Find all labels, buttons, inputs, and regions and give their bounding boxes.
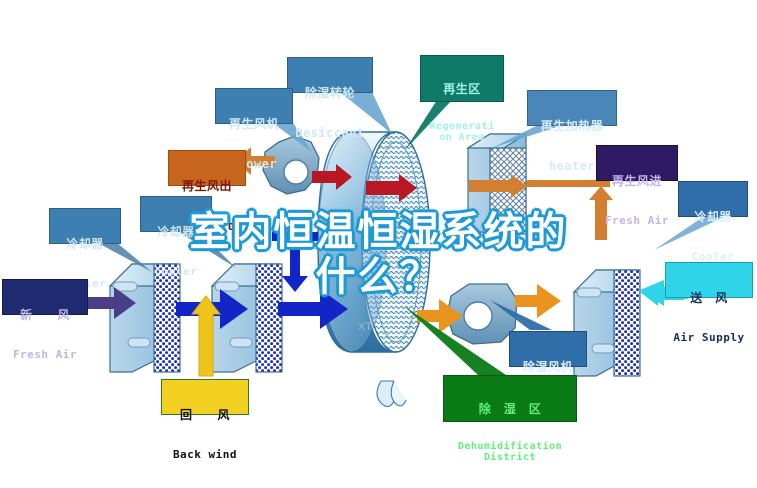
label-regeneration-heater[interactable]: 再生加热器 heater: [527, 90, 617, 126]
label-air-supply[interactable]: 送 风 Air Supply: [665, 262, 753, 298]
label-regeneration-fresh-air[interactable]: 再生风进 Fresh Air: [596, 145, 678, 181]
label-dehumidification-district-cn: 除 湿 区: [444, 403, 576, 416]
label-desiccant-rotor-cn: 除湿转轮: [288, 87, 372, 100]
label-air-supply-en: Air Supply: [666, 332, 752, 344]
label-cooler-mid-cn: 冷却器: [141, 226, 211, 239]
label-regeneration-blower[interactable]: 再生风机 Blower: [215, 88, 293, 124]
label-regeneration-blower-cn: 再生风机: [216, 118, 292, 131]
label-cooler-right[interactable]: 冷却器 Cooler: [678, 181, 748, 217]
label-cooler-mid-en: Cooler: [141, 266, 211, 278]
label-air-supply-cn: 送 风: [666, 292, 752, 305]
label-dehumidification-blower[interactable]: 除湿风机 Blower: [509, 331, 587, 367]
label-dehumidification-district[interactable]: 除 湿 区 Dehumidification District: [443, 375, 577, 422]
label-exhaust[interactable]: 再生风出 Exhaust: [168, 150, 246, 186]
label-regeneration-fresh-air-cn: 再生风进: [597, 175, 677, 188]
label-back-wind-en: Back wind: [162, 449, 248, 461]
label-regeneration-area[interactable]: 再生区 Regenerati on Area: [420, 55, 504, 102]
label-fresh-air-inlet-cn: 新 风: [3, 309, 87, 322]
label-regeneration-heater-cn: 再生加热器: [528, 120, 616, 133]
label-fresh-air-inlet-en: Fresh Air: [3, 349, 87, 361]
label-dehumidification-district-en: Dehumidification District: [444, 441, 576, 463]
label-cooler-mid[interactable]: 冷却器 Cooler: [140, 196, 212, 232]
label-fresh-air-inlet[interactable]: 新 风 Fresh Air: [2, 279, 88, 315]
label-back-wind-cn: 回 风: [162, 409, 248, 422]
label-desiccant-rotor[interactable]: 除湿转轮 Desiccant: [287, 57, 373, 93]
label-back-wind[interactable]: 回 风 Back wind: [161, 379, 249, 415]
arrow-blower-to-coil: [515, 284, 561, 318]
diagram-canvas: XT: [0, 0, 757, 488]
label-regeneration-fresh-air-en: Fresh Air: [597, 215, 677, 227]
watermark-text: XT: [358, 321, 372, 333]
label-regeneration-area-en: Regenerati on Area: [421, 121, 503, 143]
label-regeneration-area-cn: 再生区: [421, 83, 503, 96]
label-desiccant-rotor-en: Desiccant: [288, 127, 372, 140]
label-cooler-left-cn: 冷却器: [50, 238, 120, 251]
label-cooler-right-cn: 冷却器: [679, 211, 747, 224]
label-cooler-left[interactable]: 冷却器 Cooler: [49, 208, 121, 244]
label-exhaust-cn: 再生风出: [169, 180, 245, 193]
label-dehumidification-blower-cn: 除湿风机: [510, 361, 586, 374]
